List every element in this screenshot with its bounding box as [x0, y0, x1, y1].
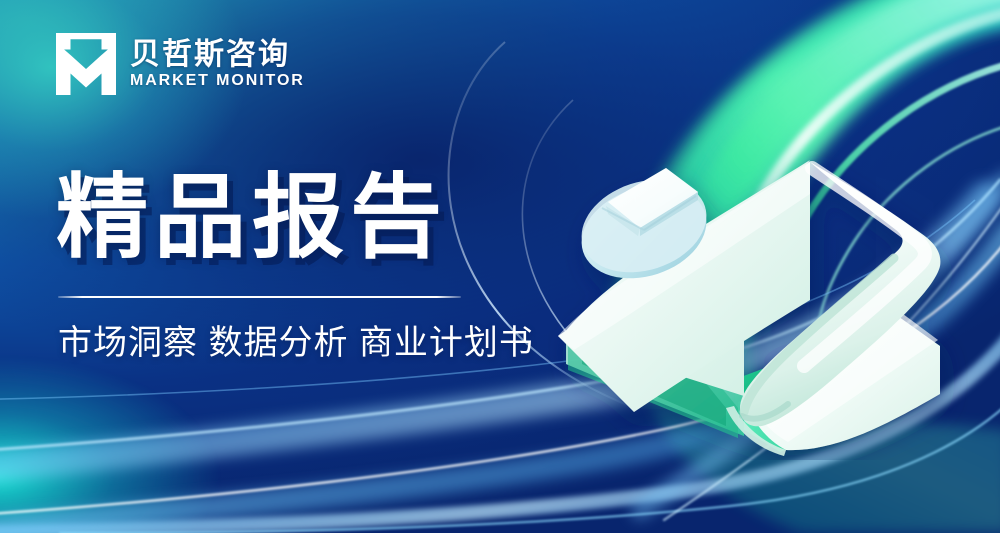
market-monitor-m-mark-icon [56, 33, 116, 95]
company-name-cn: 贝哲斯咨询 [130, 39, 305, 71]
brand-logo: 贝哲斯咨询 MARKET MONITOR [56, 33, 305, 95]
report-banner: 贝哲斯咨询 MARKET MONITOR 精品报告 市场洞察 数据分析 商业计划… [0, 0, 1000, 533]
brand-logo-text: 贝哲斯咨询 MARKET MONITOR [130, 39, 305, 90]
open-book-illustration [548, 150, 968, 460]
page-title: 精品报告 [56, 172, 576, 266]
headline-block: 精品报告 市场洞察 数据分析 商业计划书 [56, 172, 576, 364]
page-subtitle: 市场洞察 数据分析 商业计划书 [58, 323, 576, 364]
company-name-en: MARKET MONITOR [130, 73, 305, 89]
title-divider [58, 296, 461, 298]
